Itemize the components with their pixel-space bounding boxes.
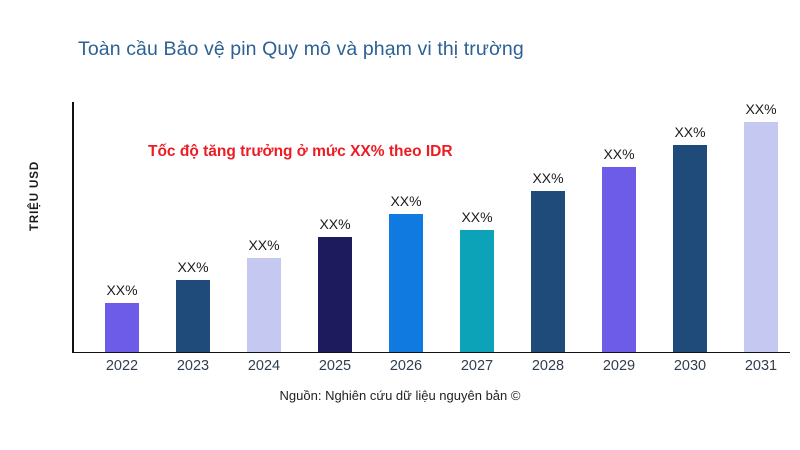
- bar[interactable]: [531, 191, 565, 352]
- bar-value-label: XX%: [248, 237, 279, 253]
- bar[interactable]: [744, 122, 778, 352]
- bar[interactable]: [176, 280, 210, 352]
- bar-group: XX%: [105, 102, 139, 352]
- x-axis-tick-2025: 2025: [305, 358, 365, 374]
- x-axis-tick-2028: 2028: [518, 358, 578, 374]
- bar-group: XX%: [460, 102, 494, 352]
- bar-value-label: XX%: [461, 209, 492, 225]
- bar[interactable]: [602, 167, 636, 352]
- bar[interactable]: [318, 237, 352, 352]
- source-note: Nguồn: Nghiên cứu dữ liệu nguyên bản ©: [0, 388, 800, 403]
- bar-group: XX%: [389, 102, 423, 352]
- x-axis-tick-2031: 2031: [731, 358, 791, 374]
- bar[interactable]: [460, 230, 494, 352]
- x-axis-tick-labels: 2022202320242025202620272028202920302031: [72, 358, 790, 382]
- chart-title: Toàn cầu Bảo vệ pin Quy mô và phạm vi th…: [78, 38, 524, 61]
- x-axis-tick-2030: 2030: [660, 358, 720, 374]
- bar[interactable]: [105, 303, 139, 352]
- x-axis-tick-2024: 2024: [234, 358, 294, 374]
- bar-group: XX%: [318, 102, 352, 352]
- bar[interactable]: [389, 214, 423, 352]
- x-axis-tick-2027: 2027: [447, 358, 507, 374]
- bar-group: XX%: [247, 102, 281, 352]
- bar-group: XX%: [531, 102, 565, 352]
- bar[interactable]: [247, 258, 281, 352]
- bar-value-label: XX%: [603, 146, 634, 162]
- bar-group: XX%: [602, 102, 636, 352]
- bar-value-label: XX%: [390, 193, 421, 209]
- bar[interactable]: [673, 145, 707, 352]
- bar-group: XX%: [176, 102, 210, 352]
- x-axis-tick-2023: 2023: [163, 358, 223, 374]
- bar-value-label: XX%: [745, 101, 776, 117]
- bar-value-label: XX%: [674, 124, 705, 140]
- bar-group: XX%: [673, 102, 707, 352]
- chart-canvas: Toàn cầu Bảo vệ pin Quy mô và phạm vi th…: [0, 0, 800, 450]
- bar-value-label: XX%: [532, 170, 563, 186]
- bar-value-label: XX%: [106, 282, 137, 298]
- bar-value-label: XX%: [177, 259, 208, 275]
- bar-value-label: XX%: [319, 216, 350, 232]
- x-axis-tick-2026: 2026: [376, 358, 436, 374]
- x-axis-tick-2029: 2029: [589, 358, 649, 374]
- plot-area: XX%XX%XX%XX%XX%XX%XX%XX%XX%XX%: [72, 102, 790, 352]
- x-axis-tick-2022: 2022: [92, 358, 152, 374]
- bar-group: XX%: [744, 102, 778, 352]
- y-axis-title: TRIỆU USD: [29, 136, 41, 256]
